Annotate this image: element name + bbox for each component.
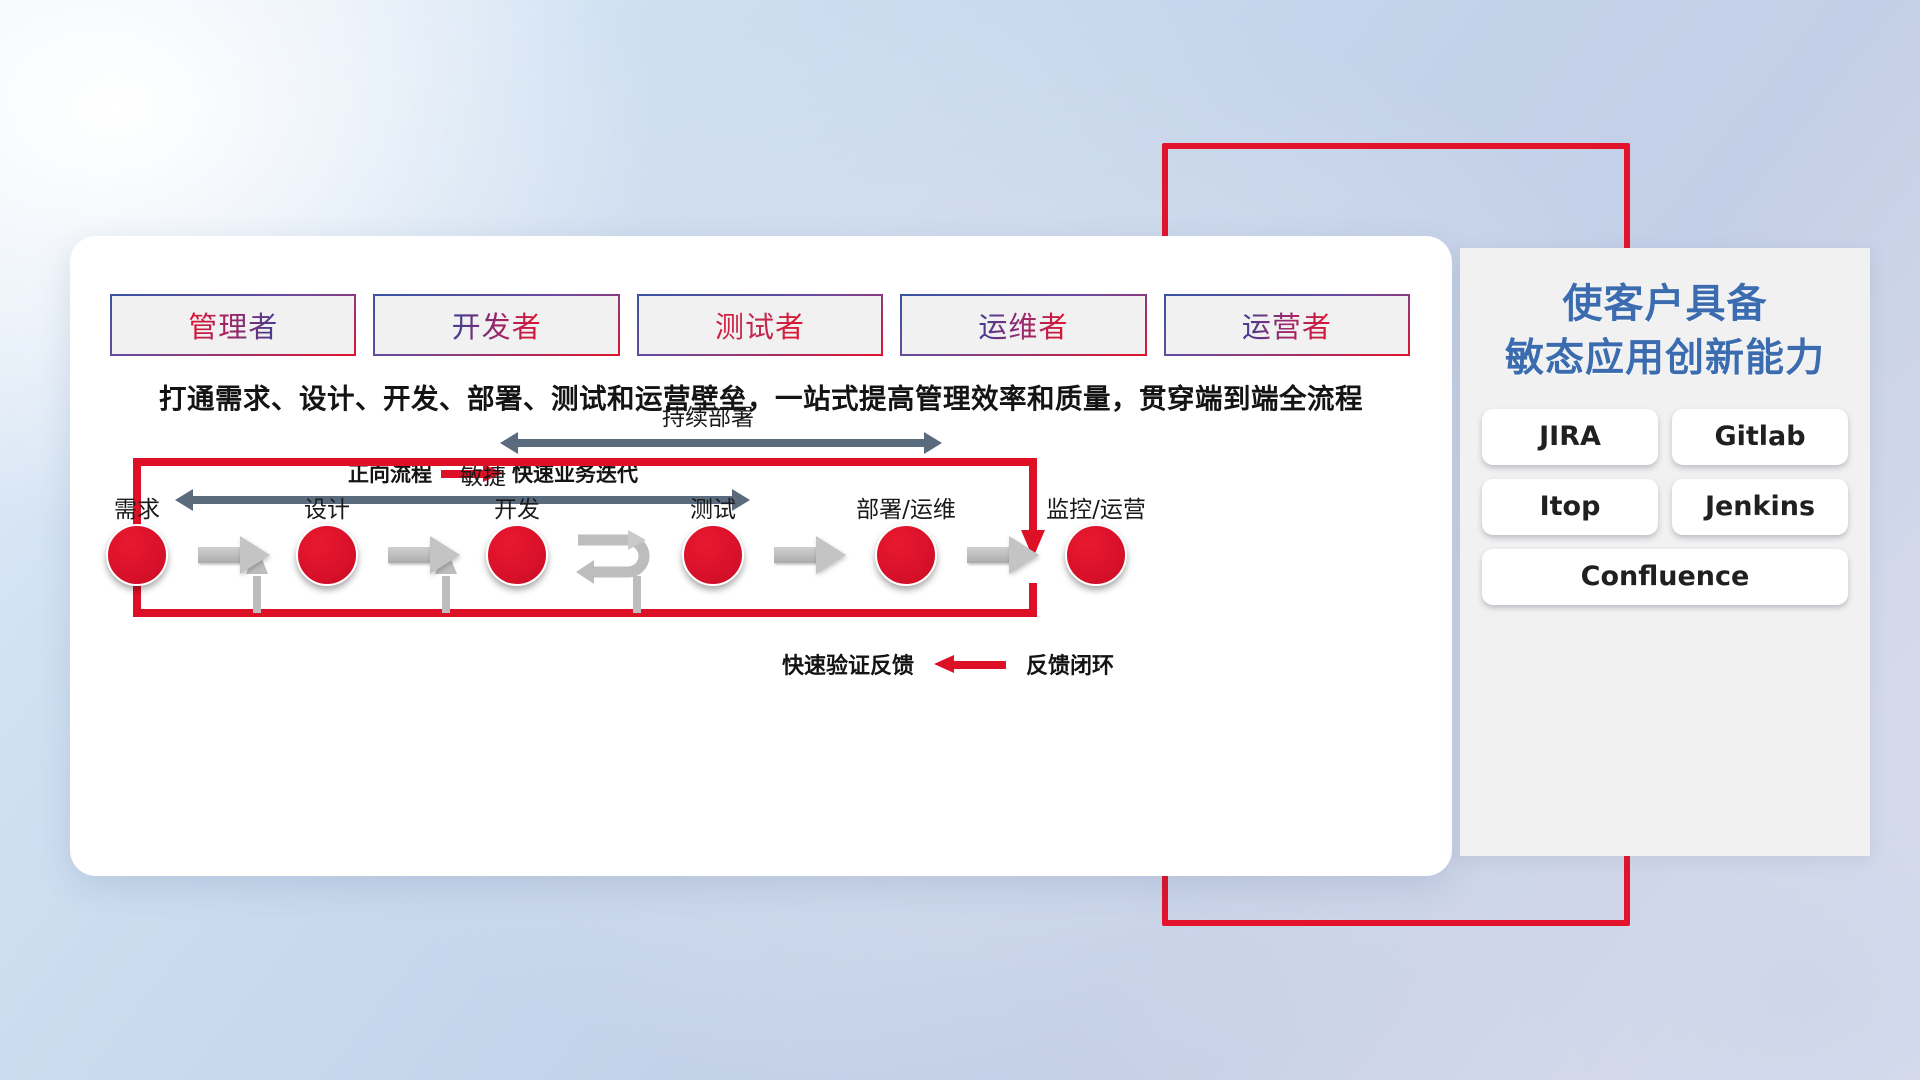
stage-label: 监控/运营 bbox=[1046, 490, 1146, 524]
panel-title: 使客户具备 敏态应用创新能力 bbox=[1482, 276, 1848, 387]
tool-pill-itop[interactable]: Itop bbox=[1482, 479, 1658, 535]
capability-panel: 使客户具备 敏态应用创新能力 JIRA Gitlab Itop Jenkins … bbox=[1460, 248, 1870, 856]
tool-label: Gitlab bbox=[1714, 421, 1805, 452]
feedback-legend: 快速验证反馈 反馈闭环 bbox=[782, 648, 1114, 680]
tool-label: Confluence bbox=[1581, 561, 1750, 592]
stage-dot-icon bbox=[682, 524, 744, 586]
stage-label: 需求 bbox=[114, 490, 160, 524]
stage-dot-icon bbox=[486, 524, 548, 586]
pipeline: 需求 设计 开发 测试 部署/运 bbox=[70, 236, 1452, 876]
flow-chevron-icon bbox=[967, 536, 1039, 574]
pipeline-stage-monitor-operations[interactable]: 监控/运营 bbox=[1065, 524, 1127, 586]
pipeline-stage-development[interactable]: 开发 bbox=[486, 524, 548, 586]
fast-validation-label: 快速验证反馈 bbox=[782, 648, 914, 680]
flow-chevron-icon bbox=[388, 536, 460, 574]
main-diagram-card: 管理者 开发者 测试者 运维者 运营者 打通需求、设计、开发、部署、测试和运营壁… bbox=[70, 236, 1452, 876]
tool-pill-jira[interactable]: JIRA bbox=[1482, 409, 1658, 465]
panel-title-line2: 敏态应用创新能力 bbox=[1482, 332, 1848, 387]
stage-dot-icon bbox=[106, 524, 168, 586]
stage-dot-icon bbox=[296, 524, 358, 586]
pipeline-stage-deploy-ops[interactable]: 部署/运维 bbox=[875, 524, 937, 586]
tool-label: Jenkins bbox=[1705, 491, 1815, 522]
pipeline-stage-design[interactable]: 设计 bbox=[296, 524, 358, 586]
flow-chevron-icon bbox=[774, 536, 846, 574]
arrow-left-red-icon bbox=[934, 655, 1006, 674]
panel-title-line1: 使客户具备 bbox=[1563, 281, 1768, 327]
stage-label: 测试 bbox=[690, 490, 736, 524]
tool-label: Itop bbox=[1540, 491, 1601, 522]
pipeline-stage-testing[interactable]: 测试 bbox=[682, 524, 744, 586]
iteration-uturn-arrow-icon bbox=[570, 526, 670, 588]
stage-label: 开发 bbox=[494, 490, 540, 524]
stage-dot-icon bbox=[1065, 524, 1127, 586]
stage-dot-icon bbox=[875, 524, 937, 586]
flow-chevron-icon bbox=[198, 536, 270, 574]
tool-list: JIRA Gitlab Itop Jenkins Confluence bbox=[1482, 409, 1848, 605]
tool-pill-jenkins[interactable]: Jenkins bbox=[1672, 479, 1848, 535]
stage-label: 设计 bbox=[304, 490, 350, 524]
stage-label: 部署/运维 bbox=[856, 490, 956, 524]
feedback-loop-label: 反馈闭环 bbox=[1026, 648, 1114, 680]
tool-pill-confluence[interactable]: Confluence bbox=[1482, 549, 1848, 605]
tool-pill-gitlab[interactable]: Gitlab bbox=[1672, 409, 1848, 465]
tool-label: JIRA bbox=[1539, 421, 1601, 452]
pipeline-stage-requirement[interactable]: 需求 bbox=[106, 524, 168, 586]
